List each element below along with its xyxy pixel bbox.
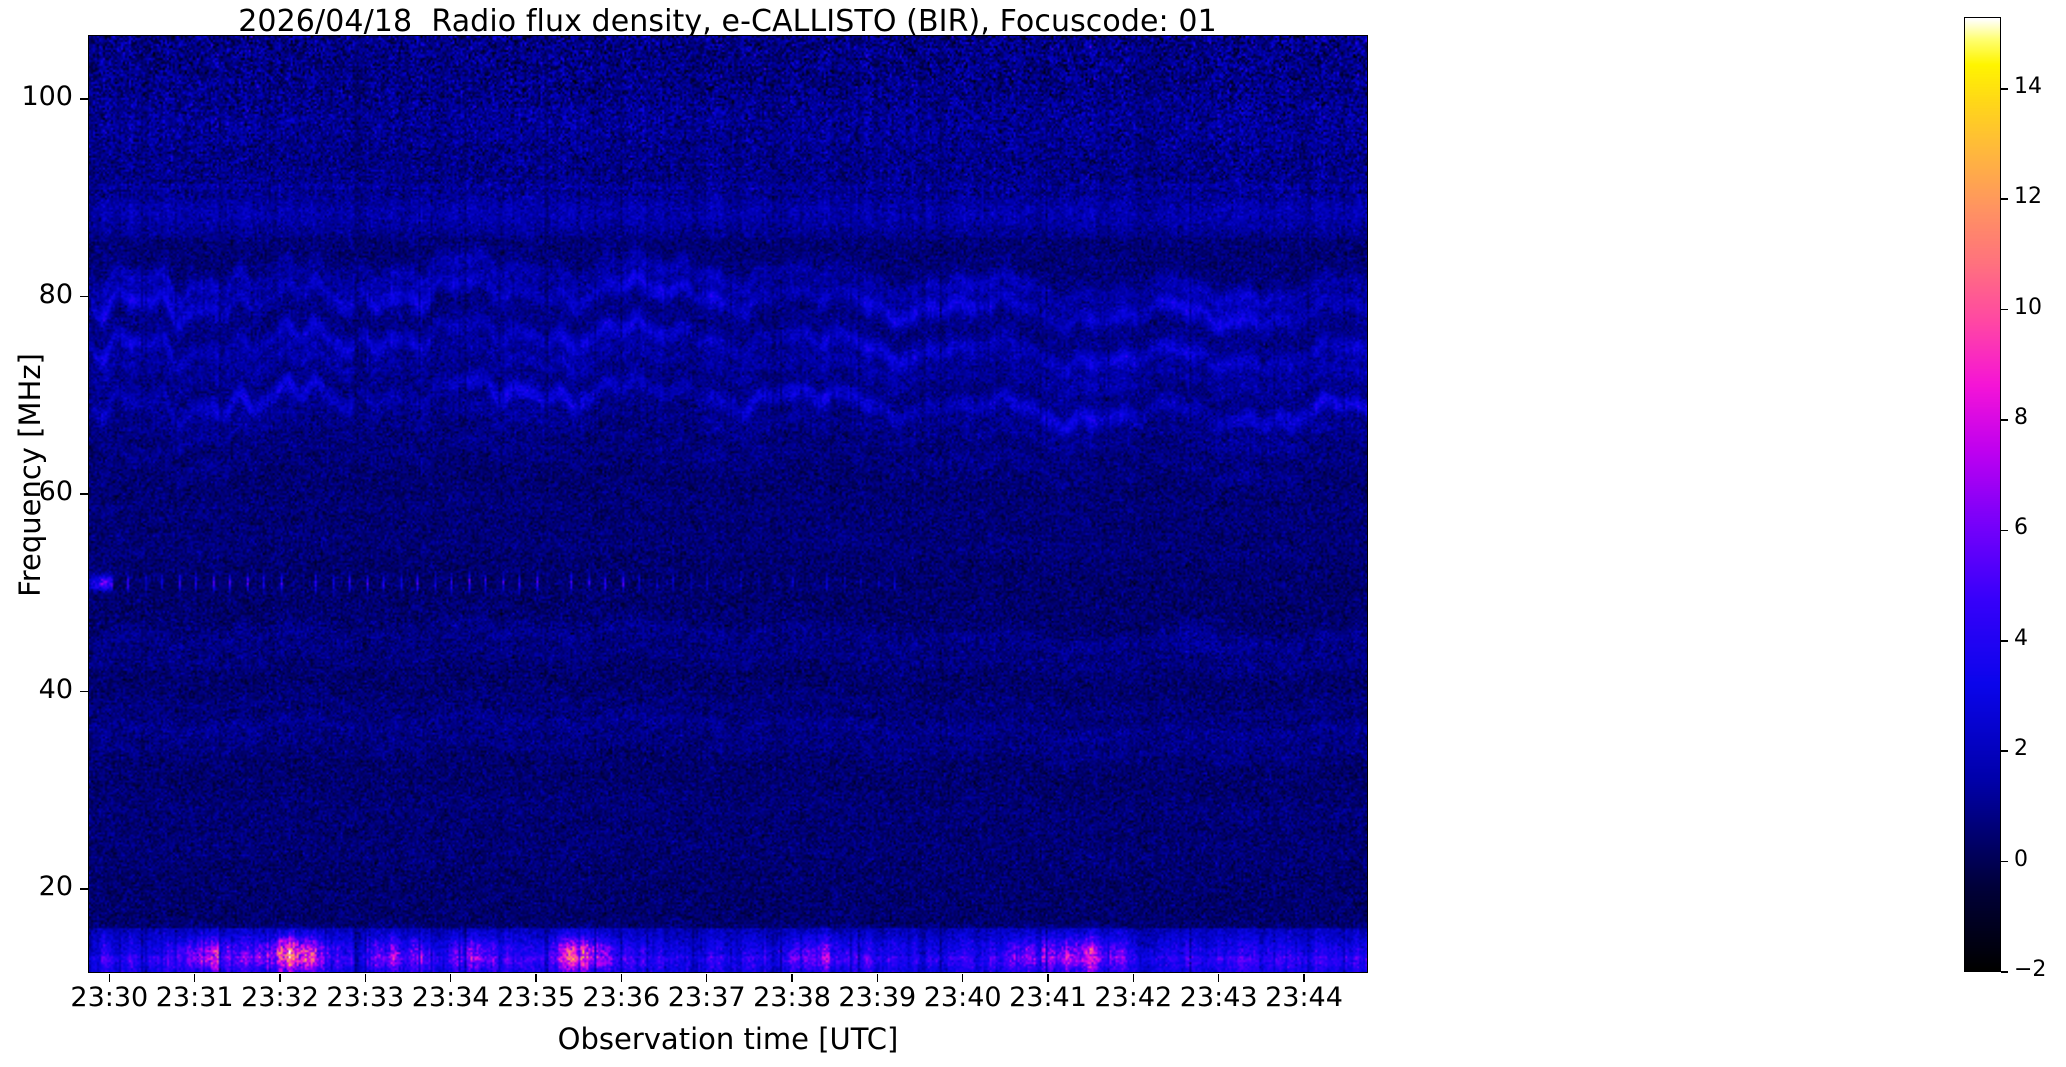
colorbar-tick-mark: [2001, 419, 2008, 421]
colorbar-tick-mark: [2001, 640, 2008, 642]
x-tick-mark: [962, 974, 964, 982]
x-tick-mark: [365, 974, 367, 982]
x-tick-mark: [1303, 974, 1305, 982]
y-axis-label: Frequency [MHz]: [13, 215, 47, 735]
colorbar-tick-mark: [2001, 88, 2008, 90]
colorbar-tick-label: 10: [2014, 295, 2042, 320]
colorbar-tick-label: −2: [2014, 957, 2046, 982]
colorbar-tick-label: 4: [2014, 626, 2028, 651]
x-axis-label: Observation time [UTC]: [88, 1022, 1368, 1056]
x-tick-mark: [877, 974, 879, 982]
y-tick-mark: [80, 98, 88, 100]
x-tick-mark: [279, 974, 281, 982]
x-tick-mark: [194, 974, 196, 982]
colorbar-tick-label: 2: [2014, 736, 2028, 761]
colorbar-tick-label: 8: [2014, 405, 2028, 430]
x-tick-mark: [791, 974, 793, 982]
colorbar[interactable]: [1964, 17, 2001, 972]
x-tick-mark: [450, 974, 452, 982]
x-tick-mark: [621, 974, 623, 982]
y-tick-mark: [80, 493, 88, 495]
colorbar-tick-mark: [2001, 750, 2008, 752]
y-tick-label: 20: [0, 871, 73, 902]
colorbar-tick-mark: [2001, 530, 2008, 532]
x-tick-mark: [1218, 974, 1220, 982]
spectrogram-image: [89, 36, 1367, 972]
y-tick-mark: [80, 691, 88, 693]
x-tick-mark: [535, 974, 537, 982]
y-tick-label: 100: [0, 81, 73, 112]
colorbar-tick-mark: [2001, 971, 2008, 973]
x-tick-mark: [1133, 974, 1135, 982]
x-tick-mark: [706, 974, 708, 982]
colorbar-tick-mark: [2001, 309, 2008, 311]
colorbar-tick-mark: [2001, 198, 2008, 200]
colorbar-tick-label: 6: [2014, 515, 2028, 540]
x-tick-label: 23:44: [1219, 982, 1389, 1013]
spectrogram-axes[interactable]: [88, 35, 1368, 973]
figure-canvas: 2026/04/18 Radio flux density, e-CALLIST…: [0, 0, 2066, 1067]
colorbar-tick-label: 0: [2014, 847, 2028, 872]
x-tick-mark: [1047, 974, 1049, 982]
y-tick-mark: [80, 888, 88, 890]
page-title: 2026/04/18 Radio flux density, e-CALLIST…: [0, 4, 1455, 39]
y-tick-mark: [80, 296, 88, 298]
colorbar-tick-label: 14: [2014, 74, 2042, 99]
colorbar-tick-mark: [2001, 861, 2008, 863]
x-tick-mark: [109, 974, 111, 982]
colorbar-tick-label: 12: [2014, 184, 2042, 209]
colorbar-gradient: [1965, 18, 2000, 971]
